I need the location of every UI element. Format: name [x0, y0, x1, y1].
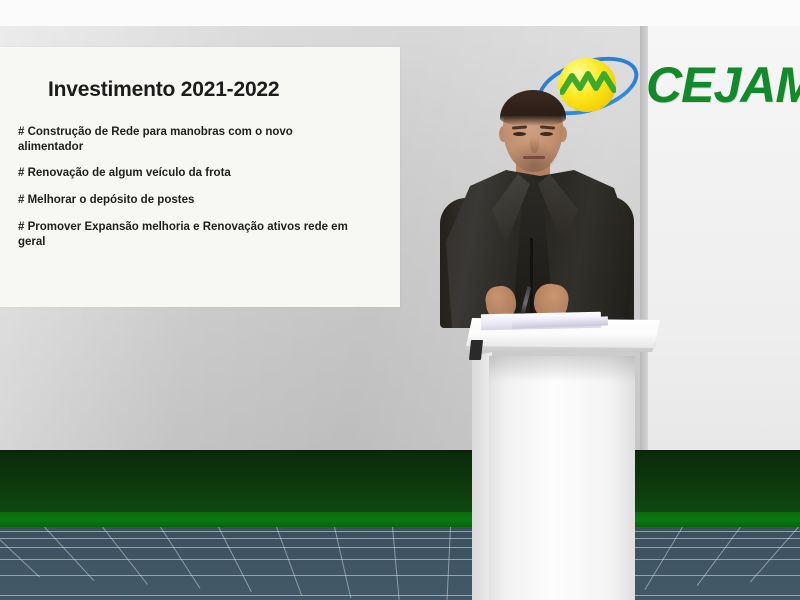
presenter-eye-right — [540, 132, 553, 136]
projected-slide: Investimento 2021-2022 # Construção de R… — [0, 47, 400, 307]
presenter-nose — [530, 136, 539, 153]
microphone-clip-icon — [469, 340, 483, 360]
presenter-figure — [430, 88, 660, 328]
slide-title: Investimento 2021-2022 — [48, 78, 279, 102]
slide-bullet-list: # Construção de Rede para manobras com o… — [18, 125, 348, 261]
floor-grid-line — [160, 527, 200, 589]
presenter-hair — [500, 90, 566, 126]
floor-grid-line — [0, 575, 800, 576]
floor-grid-line — [0, 527, 40, 577]
broadcast-frame: Investimento 2021-2022 # Construção de R… — [0, 0, 800, 600]
floor-grid-line — [102, 527, 148, 585]
slide-bullet: # Renovação de algum veículo da frota — [18, 166, 348, 181]
tiled-floor — [0, 527, 800, 600]
green-wall-band — [0, 452, 800, 514]
presenter-mouth — [523, 156, 545, 159]
floor-grid-line — [44, 527, 94, 581]
slide-bullet: # Melhorar o depósito de postes — [18, 193, 348, 208]
floor-grid-line — [0, 595, 800, 596]
presenter-eye-left — [513, 132, 526, 136]
podium-body — [489, 356, 635, 600]
slide-bullet: # Construção de Rede para manobras com o… — [18, 125, 348, 154]
floor-grid-line — [0, 538, 800, 539]
cejama-wordmark: CEJAMA — [646, 56, 800, 114]
floor-grid-line — [0, 559, 800, 560]
floor-grid-line — [697, 527, 741, 586]
slide-bullet: # Promover Expansão melhoria e Renovação… — [18, 220, 348, 249]
podium-under-shadow — [489, 356, 635, 382]
ceiling-band — [0, 0, 800, 26]
floor-grid-line — [750, 527, 799, 582]
green-baseboard-strip — [0, 512, 800, 528]
